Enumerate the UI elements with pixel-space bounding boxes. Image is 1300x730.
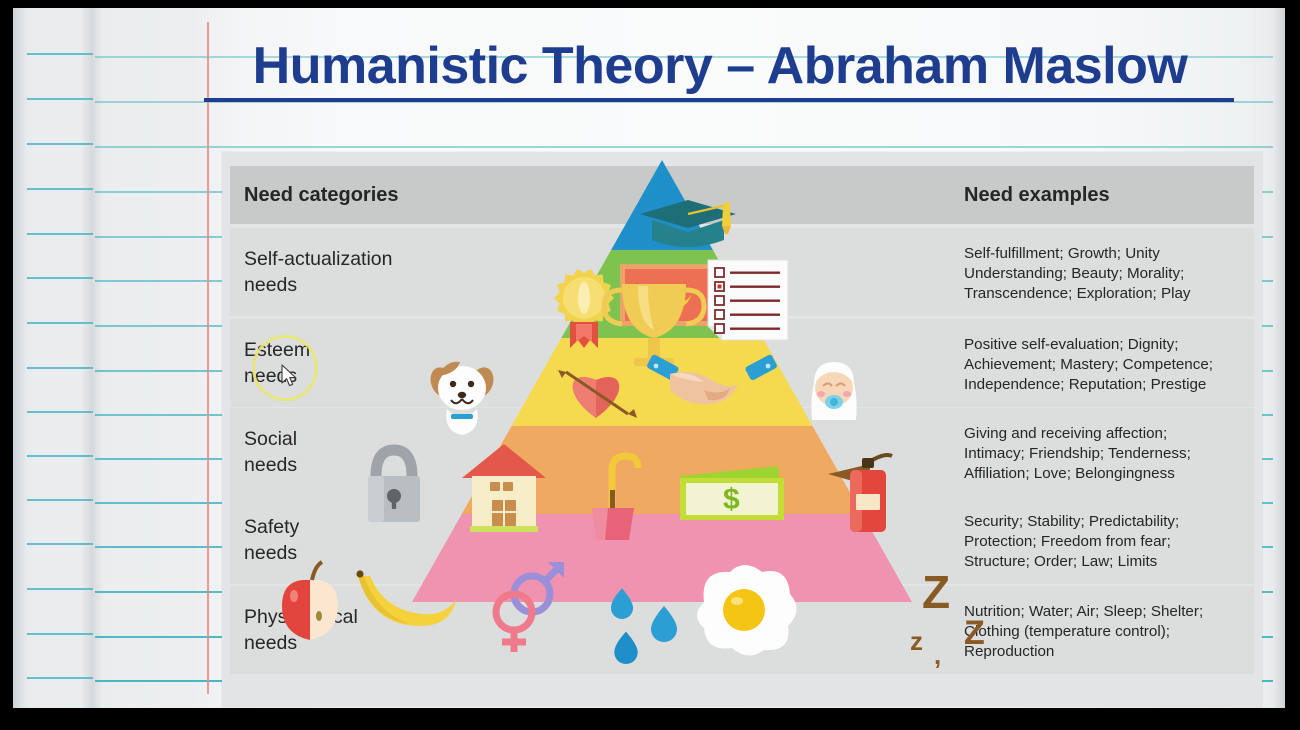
notebook-rule-right [95, 146, 1273, 148]
need-category-label: Physiological needs [244, 604, 358, 656]
need-category-label: Self-actualization needs [244, 246, 393, 298]
need-examples-text: Self-fulfillment; Growth; Unity Understa… [964, 244, 1244, 304]
notebook-margin-line [207, 22, 209, 694]
notebook-rule-left [27, 367, 93, 369]
notebook-rule-left [27, 411, 93, 413]
notebook-rule-left [27, 677, 93, 679]
need-examples-text: Giving and receiving affection; Intimacy… [964, 424, 1244, 484]
notebook-rule-left [27, 543, 93, 545]
page-title: Humanistic Theory – Abraham Maslow [200, 36, 1240, 96]
notebook-rule-left [27, 322, 93, 324]
screen-capture: Humanistic Theory – Abraham Maslow Need … [0, 0, 1300, 730]
need-category-label: Social needs [244, 426, 297, 478]
maslow-pyramid-slide: Need categoriesNeed examplesSelf-actuali… [222, 152, 1262, 707]
notebook-rule-left [27, 455, 93, 457]
mouse-cursor-icon [281, 364, 299, 388]
page-right-edge [1273, 8, 1285, 708]
letterbox-top [0, 0, 1300, 8]
notebook-spine-shadow [81, 8, 103, 708]
needs-table: Need categoriesNeed examplesSelf-actuali… [222, 152, 1262, 707]
letterbox-left [0, 0, 13, 730]
notebook-rule-left [27, 53, 93, 55]
header-label-need-examples: Need examples [964, 182, 1244, 208]
need-examples-text: Security; Stability; Predictability; Pro… [964, 512, 1244, 572]
need-examples-text: Positive self-evaluation; Dignity; Achie… [964, 335, 1244, 395]
notebook-rule-left [27, 633, 93, 635]
title-underline [204, 98, 1234, 102]
letterbox-bottom [0, 708, 1300, 730]
page-left-edge [13, 8, 27, 708]
header-label-need-categories: Need categories [244, 182, 399, 208]
notebook-rule-left [27, 233, 93, 235]
notebook-rule-left [27, 277, 93, 279]
letterbox-right [1285, 0, 1300, 730]
notebook-rule-left [27, 143, 93, 145]
notebook-rule-left [27, 188, 93, 190]
notebook-rule-left [27, 588, 93, 590]
need-category-label: Safety needs [244, 514, 299, 566]
need-examples-text: Nutrition; Water; Air; Sleep; Shelter; C… [964, 602, 1244, 662]
notebook-rule-left [27, 98, 93, 100]
notebook-rule-left [27, 499, 93, 501]
